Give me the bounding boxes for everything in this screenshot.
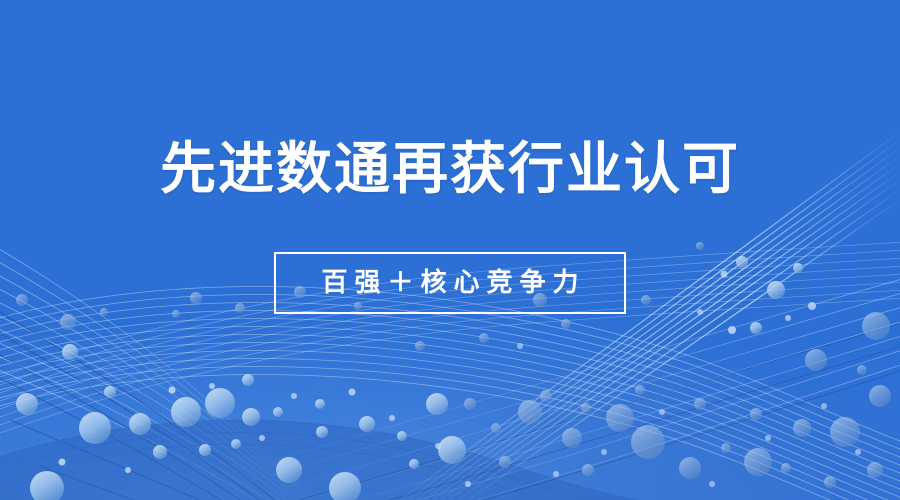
promo-banner: 先进数通再获行业认可 百强＋核心竞争力 [0,0,900,500]
banner-text-block: 先进数通再获行业认可 百强＋核心竞争力 [0,0,900,500]
subtitle-frame: 百强＋核心竞争力 [274,252,626,314]
subtitle-label: 百强＋核心竞争力 [314,268,585,298]
page-title: 先进数通再获行业认可 [160,138,740,202]
